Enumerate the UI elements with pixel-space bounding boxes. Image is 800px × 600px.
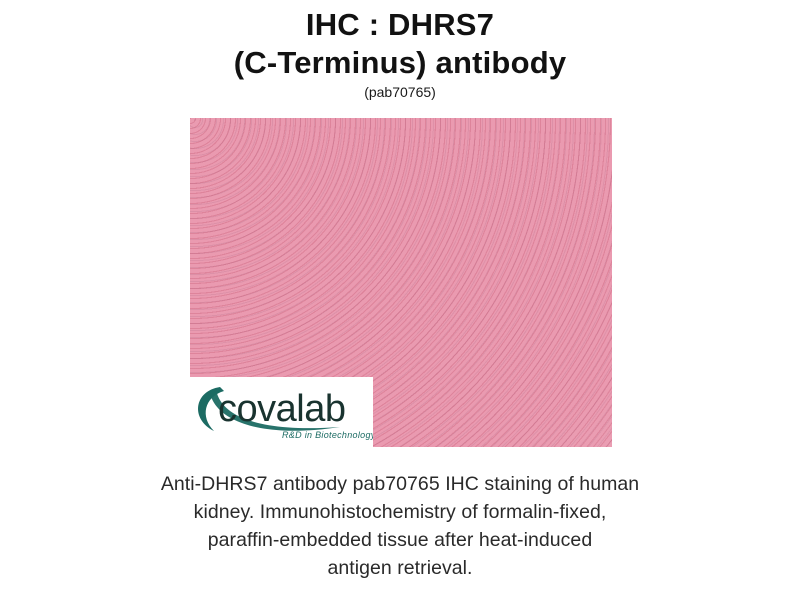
page-title-line-1: IHC : DHRS7 bbox=[0, 6, 800, 44]
covalab-logo-graphic: covalab R&D in Biotechnology bbox=[190, 377, 373, 447]
catalog-number: (pab70765) bbox=[0, 83, 800, 101]
caption-line: antigen retrieval. bbox=[0, 554, 800, 582]
header: IHC : DHRS7 (C-Terminus) antibody (pab70… bbox=[0, 0, 800, 101]
ihc-micrograph-figure: covalab R&D in Biotechnology bbox=[190, 118, 612, 447]
covalab-logo: covalab R&D in Biotechnology bbox=[190, 377, 373, 447]
caption-line: Anti-DHRS7 antibody pab70765 IHC stainin… bbox=[0, 470, 800, 498]
figure-caption: Anti-DHRS7 antibody pab70765 IHC stainin… bbox=[0, 470, 800, 582]
caption-line: kidney. Immunohistochemistry of formalin… bbox=[0, 498, 800, 526]
page-title-line-2: (C-Terminus) antibody bbox=[0, 44, 800, 82]
caption-line: paraffin-embedded tissue after heat-indu… bbox=[0, 526, 800, 554]
covalab-wordmark: covalab bbox=[218, 388, 345, 430]
covalab-tagline: R&D in Biotechnology bbox=[282, 430, 373, 440]
